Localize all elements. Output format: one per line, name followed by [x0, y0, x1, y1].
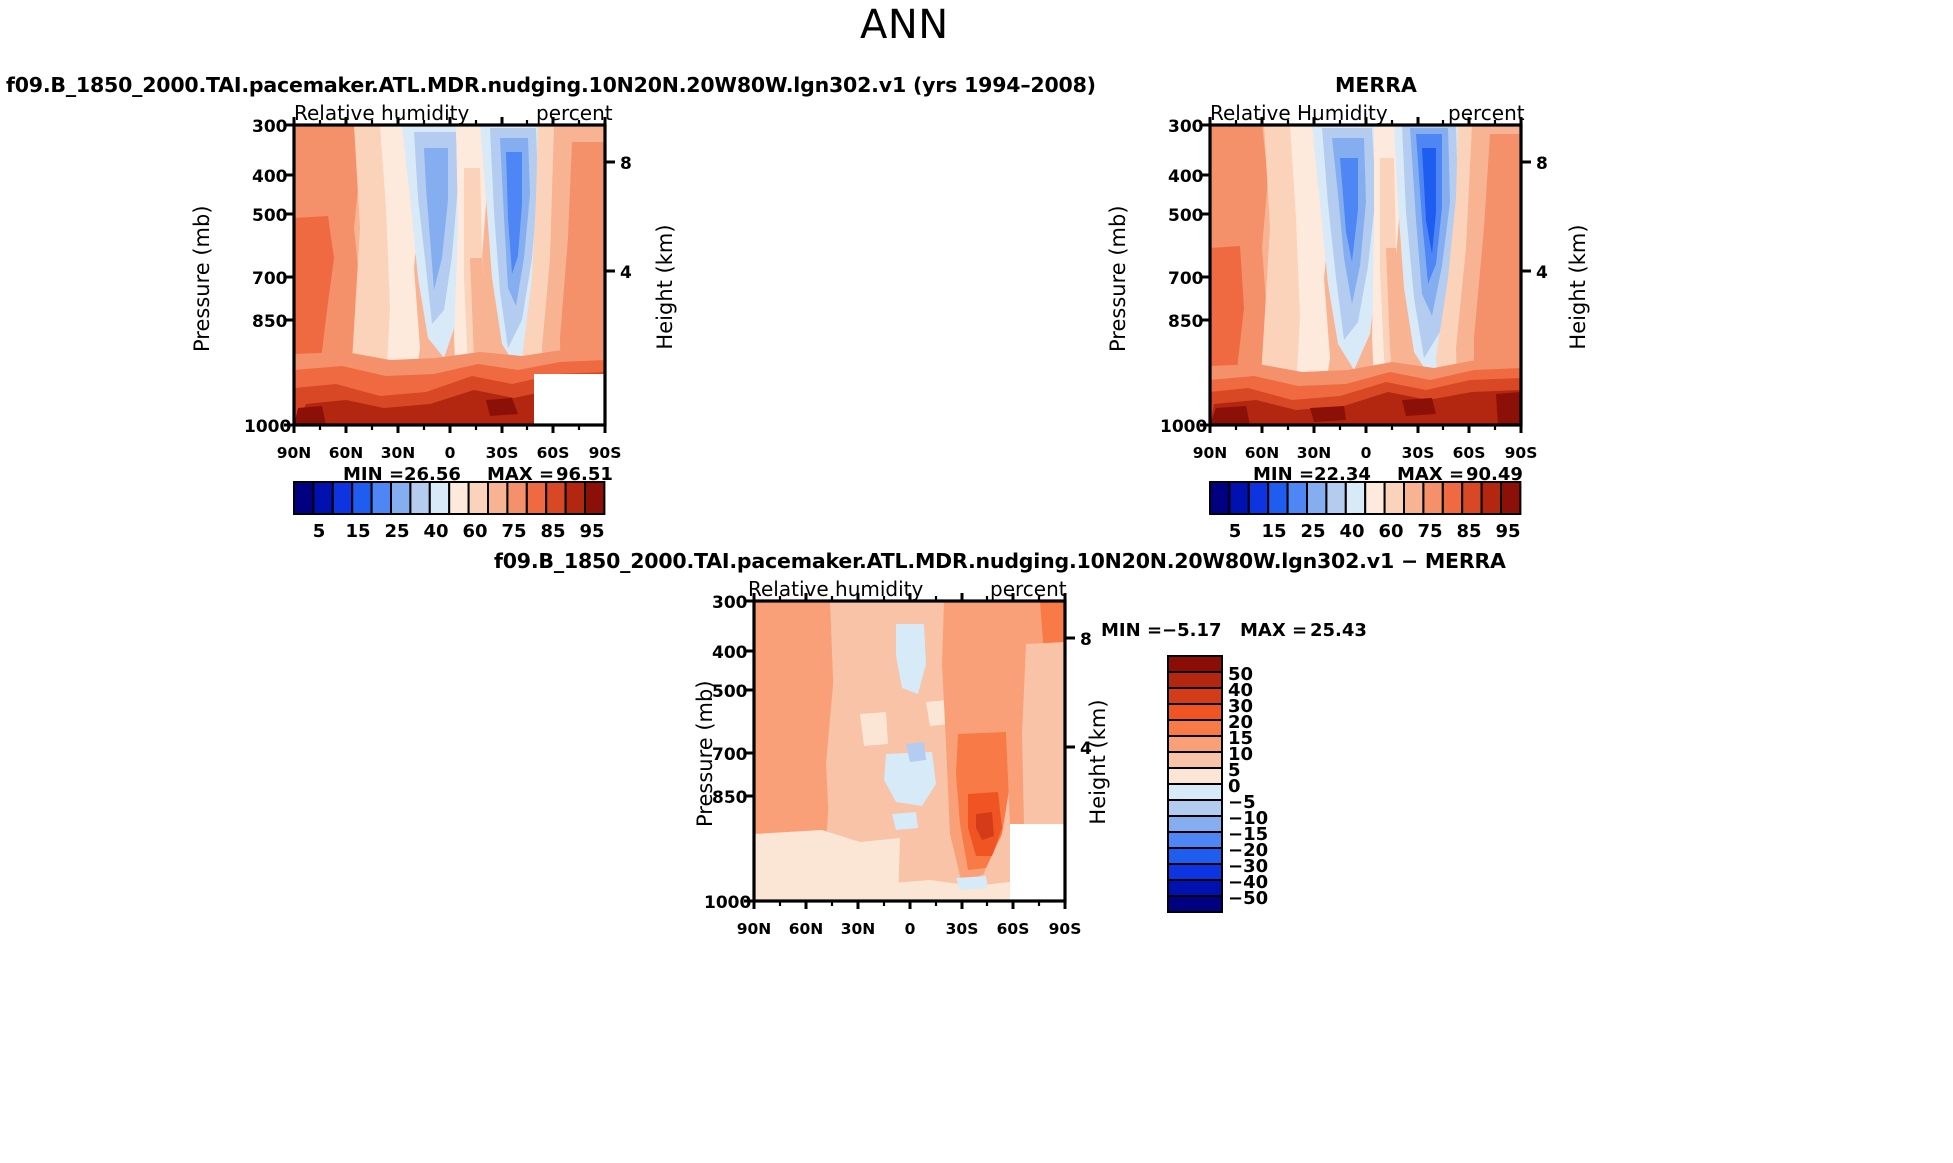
model-xtick-60S: 60S [528, 444, 578, 462]
diff-cbar-label-m50: −50 [1228, 888, 1268, 909]
obs-cbar-label-95: 95 [1492, 521, 1524, 542]
diff-colorbar [1168, 656, 1228, 912]
model-height-tick-4: 4 [620, 263, 632, 283]
obs-height-tick-8: 8 [1536, 154, 1548, 174]
diff-min-value: −5.17 [1162, 620, 1222, 641]
obs-ytick-850: 850 [1168, 312, 1196, 332]
obs-xtick-60S: 60S [1444, 444, 1494, 462]
diff-height-tick-4: 4 [1080, 739, 1092, 759]
diff-ytick-850: 850 [712, 788, 740, 808]
obs-xtick-60N: 60N [1237, 444, 1287, 462]
diff-xtick-90S: 90S [1040, 920, 1090, 938]
obs-xtick-30S: 30S [1393, 444, 1443, 462]
obs-colorbar [1210, 482, 1530, 516]
model-xtick-60N: 60N [321, 444, 371, 462]
model-cbar-label-40: 40 [420, 521, 452, 542]
diff-xtick-60S: 60S [988, 920, 1038, 938]
model-ytick-300: 300 [252, 117, 280, 137]
obs-yaxis-right-title: Height (km) [1566, 222, 1590, 352]
diff-panel-title: f09.B_1850_2000.TAI.pacemaker.ATL.MDR.nu… [494, 549, 1506, 573]
model-ytick-500: 500 [252, 206, 280, 226]
model-ytick-850: 850 [252, 312, 280, 332]
colorbar-swatches [1168, 656, 1222, 912]
diff-xtick-30S: 30S [937, 920, 987, 938]
obs-yaxis-title: Pressure (mb) [1106, 222, 1130, 352]
obs-cbar-label-85: 85 [1453, 521, 1485, 542]
diff-max-label: MAX = [1240, 620, 1307, 641]
obs-ytick-400: 400 [1168, 167, 1196, 187]
diff-ytick-300: 300 [712, 593, 740, 613]
model-xtick-0: 0 [425, 444, 475, 462]
obs-ytick-1000: 1000 [1160, 417, 1196, 437]
diff-xtick-90N: 90N [729, 920, 779, 938]
model-cbar-label-60: 60 [459, 521, 491, 542]
model-ytick-400: 400 [252, 167, 280, 187]
model-cbar-label-5: 5 [303, 521, 335, 542]
model-cbar-label-85: 85 [537, 521, 569, 542]
model-xtick-30N: 30N [373, 444, 423, 462]
model-panel-title: f09.B_1850_2000.TAI.pacemaker.ATL.MDR.nu… [6, 73, 1096, 97]
obs-xtick-90N: 90N [1185, 444, 1235, 462]
model-yaxis-title: Pressure (mb) [190, 222, 214, 352]
diff-xtick-30N: 30N [833, 920, 883, 938]
diff-height-tick-8: 8 [1080, 630, 1092, 650]
model-xtick-90S: 90S [580, 444, 630, 462]
model-ytick-700: 700 [252, 269, 280, 289]
model-cbar-label-25: 25 [381, 521, 413, 542]
diff-ytick-1000: 1000 [704, 893, 740, 913]
obs-xtick-0: 0 [1341, 444, 1391, 462]
obs-cbar-label-25: 25 [1297, 521, 1329, 542]
model-height-tick-8: 8 [620, 154, 632, 174]
model-cbar-label-75: 75 [498, 521, 530, 542]
diff-min-label: MIN = [1101, 620, 1162, 641]
model-cbar-label-95: 95 [576, 521, 608, 542]
model-colorbar [294, 482, 614, 516]
colorbar-swatches [1210, 482, 1520, 514]
season-title: ANN [860, 2, 949, 48]
model-cbar-label-15: 15 [342, 521, 374, 542]
obs-xtick-90S: 90S [1496, 444, 1546, 462]
obs-cbar-label-5: 5 [1219, 521, 1251, 542]
obs-cbar-label-15: 15 [1258, 521, 1290, 542]
diff-ytick-400: 400 [712, 643, 740, 663]
obs-cbar-label-60: 60 [1375, 521, 1407, 542]
obs-xtick-30N: 30N [1289, 444, 1339, 462]
diff-ytick-700: 700 [712, 745, 740, 765]
model-xtick-30S: 30S [477, 444, 527, 462]
model-yaxis-right-title: Height (km) [653, 222, 677, 352]
obs-ytick-700: 700 [1168, 269, 1196, 289]
diff-xtick-60N: 60N [781, 920, 831, 938]
model-xtick-90N: 90N [269, 444, 319, 462]
colorbar-swatches [294, 482, 604, 514]
obs-ytick-300: 300 [1168, 117, 1196, 137]
diff-plot [710, 584, 1090, 1024]
obs-height-tick-4: 4 [1536, 263, 1548, 283]
diff-xtick-0: 0 [885, 920, 935, 938]
obs-panel-title: MERRA [1335, 73, 1417, 97]
diff-ytick-500: 500 [712, 682, 740, 702]
obs-cbar-label-75: 75 [1414, 521, 1446, 542]
obs-ytick-500: 500 [1168, 206, 1196, 226]
obs-cbar-label-40: 40 [1336, 521, 1368, 542]
diff-max-value: 25.43 [1310, 620, 1367, 641]
model-ytick-1000: 1000 [244, 417, 280, 437]
